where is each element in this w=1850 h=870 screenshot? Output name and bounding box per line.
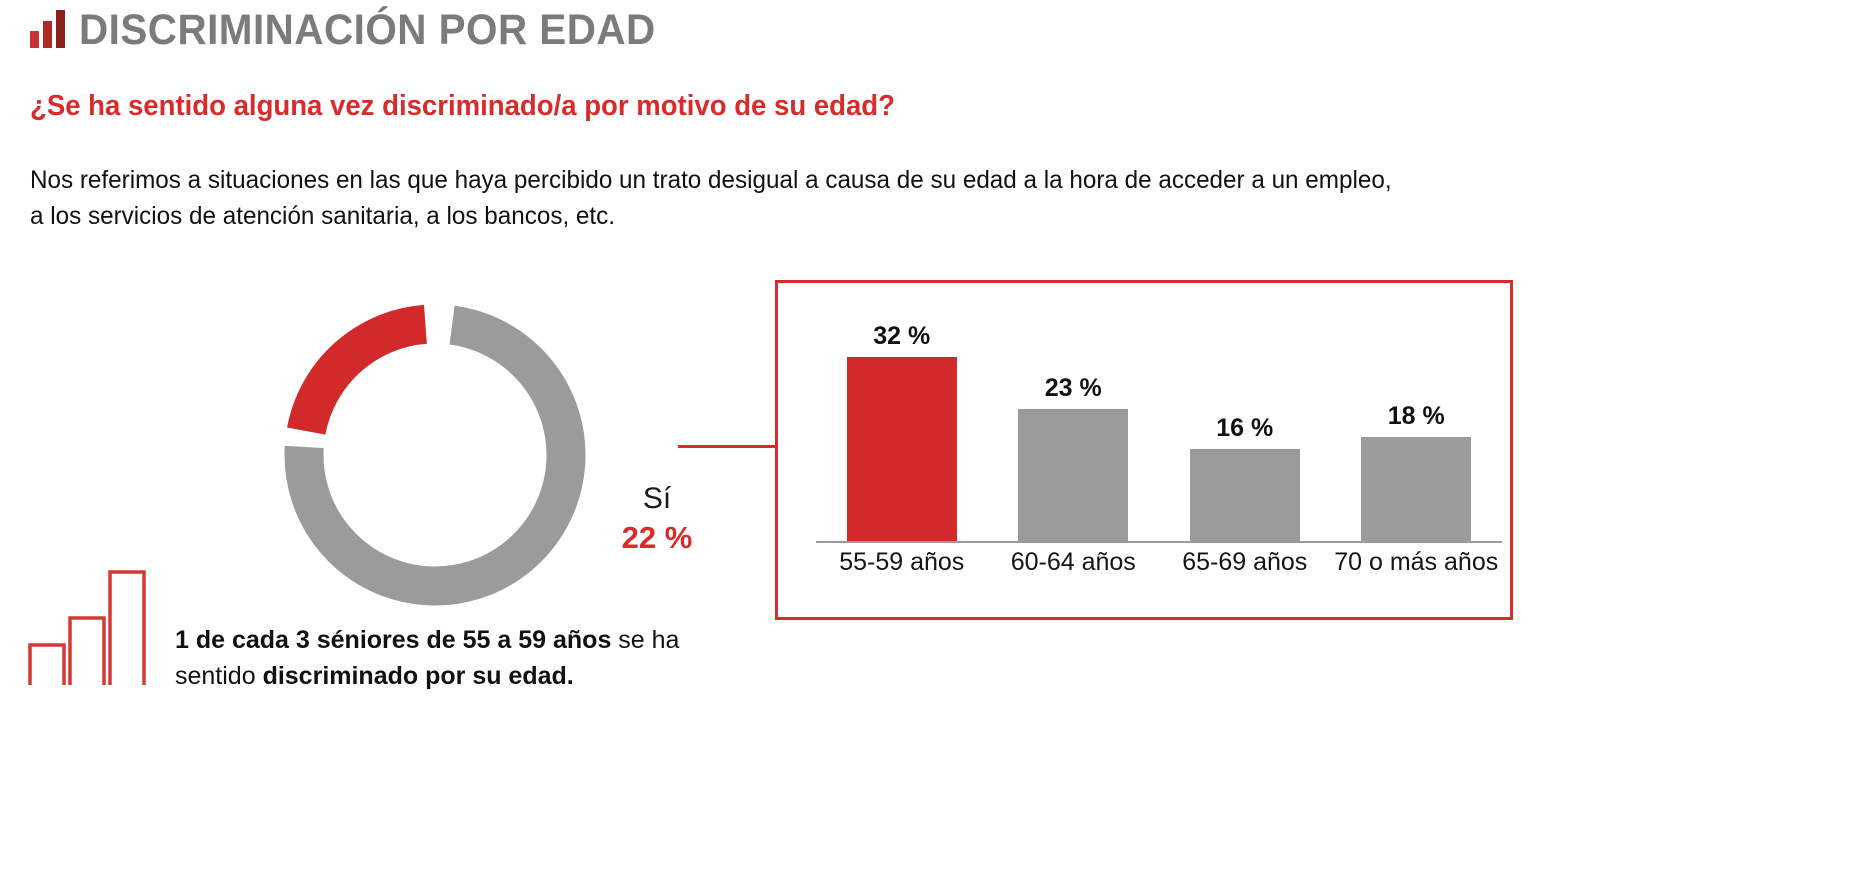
bar-rect [847,357,957,541]
x-axis-labels: 55-59 años 60-64 años 65-69 años 70 o má… [816,545,1502,579]
bar-value-label: 23 % [1045,374,1102,403]
donut-callout: Sí 22 % [592,480,722,558]
x-axis-tick-label: 70 o más años [1331,545,1503,579]
page-title: DISCRIMINACIÓN POR EDAD [79,8,656,52]
bar-chart-plot: 32 % 23 % 16 % 18 % [800,293,1494,543]
bar-column: 18 % [1331,303,1503,541]
bar-column: 16 % [1159,303,1331,541]
callout-connector-line [678,445,783,448]
donut-label-percent: 22 % [592,518,722,558]
bar-rect [1190,449,1300,541]
x-axis-tick-label: 65-69 años [1159,545,1331,579]
x-axis-line [816,541,1502,543]
bar-value-label: 18 % [1388,402,1445,431]
header: DISCRIMINACIÓN POR EDAD [30,8,693,52]
question-subtitle: ¿Se ha sentido alguna vez discriminado/a… [30,90,895,123]
bar-column: 23 % [988,303,1160,541]
bar-value-label: 16 % [1216,414,1273,443]
donut-svg [280,300,590,610]
donut-label-yes: Sí [592,480,722,518]
footer-note-bold-1: 1 de cada 3 séniores de 55 a 59 años [175,626,611,654]
bar-rect [1361,437,1471,541]
description-text: Nos referimos a situaciones en las que h… [30,162,1407,234]
bar-rect [1018,409,1128,541]
infographic-page: DISCRIMINACIÓN POR EDAD ¿Se ha sentido a… [0,0,1850,870]
bar-chart-outline-icon [26,563,146,688]
bar-chart-outline-svg [26,563,146,688]
bar-column: 32 % [816,303,988,541]
bar-chart-icon [30,12,65,52]
footer-note-bold-2: discriminado por su edad. [263,662,574,690]
x-axis-tick-label: 60-64 años [988,545,1160,579]
x-axis-tick-label: 55-59 años [816,545,988,579]
bar-group: 32 % 23 % 16 % 18 % [816,303,1502,541]
donut-chart [280,300,590,610]
bar-value-label: 32 % [873,322,930,351]
footer-note: 1 de cada 3 séniores de 55 a 59 años se … [175,622,735,694]
bar-chart-panel: 32 % 23 % 16 % 18 % 55-59 añ [775,280,1513,620]
